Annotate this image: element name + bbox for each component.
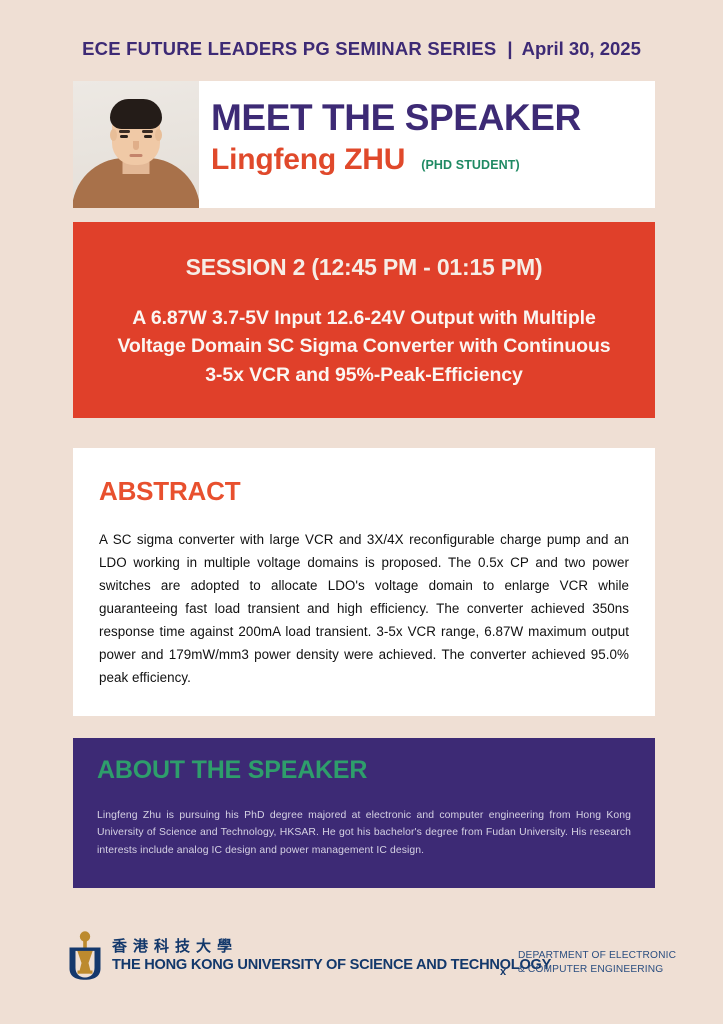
portrait-hair	[110, 99, 162, 129]
meet-the-speaker-title: MEET THE SPEAKER	[211, 99, 581, 136]
footer-separator: x	[500, 966, 506, 978]
portrait-ear-right	[155, 129, 162, 141]
department-name-block: DEPARTMENT OF ELECTRONIC & COMPUTER ENGI…	[518, 949, 676, 978]
about-speaker-block: ABOUT THE SPEAKER Lingfeng Zhu is pursui…	[73, 738, 655, 888]
department-line-2: & COMPUTER ENGINEERING	[518, 963, 676, 977]
session-block: SESSION 2 (12:45 PM - 01:15 PM) A 6.87W …	[73, 222, 655, 418]
seminar-date: April 30, 2025	[522, 38, 641, 60]
abstract-heading: ABSTRACT	[99, 478, 629, 504]
header-bar: ECE FUTURE LEADERS PG SEMINAR SERIES|Apr…	[0, 38, 723, 60]
session-paper-title: A 6.87W 3.7-5V Input 12.6-24V Output wit…	[111, 304, 617, 391]
seminar-series-title: ECE FUTURE LEADERS PG SEMINAR SERIES	[82, 38, 496, 60]
speaker-portrait-photo	[73, 81, 199, 208]
portrait-nose	[133, 141, 139, 150]
speaker-banner-text: MEET THE SPEAKER Lingfeng ZHU(PHD STUDEN…	[211, 81, 655, 208]
portrait-mouth	[130, 154, 143, 157]
header-separator: |	[496, 38, 521, 60]
abstract-block: ABSTRACT A SC sigma converter with large…	[73, 448, 655, 716]
university-name-block: 香港科技大學 THE HONG KONG UNIVERSITY OF SCIEN…	[112, 938, 551, 975]
university-name-chinese: 香港科技大學	[112, 938, 551, 955]
portrait-ear-left	[110, 129, 117, 141]
portrait-eye-right	[144, 135, 152, 138]
portrait-eyebrow-left	[119, 130, 130, 133]
about-speaker-heading: ABOUT THE SPEAKER	[97, 758, 631, 783]
portrait-eye-left	[120, 135, 128, 138]
hkust-logo-icon	[68, 930, 102, 980]
speaker-name: Lingfeng ZHU	[211, 143, 405, 177]
department-line-1: DEPARTMENT OF ELECTRONIC	[518, 949, 676, 963]
abstract-body: A SC sigma converter with large VCR and …	[99, 528, 629, 689]
speaker-role-badge: (PHD STUDENT)	[405, 158, 520, 172]
about-speaker-body: Lingfeng Zhu is pursuing his PhD degree …	[97, 807, 631, 859]
footer: 香港科技大學 THE HONG KONG UNIVERSITY OF SCIEN…	[68, 928, 668, 990]
session-heading: SESSION 2 (12:45 PM - 01:15 PM)	[111, 254, 617, 282]
speaker-banner: MEET THE SPEAKER Lingfeng ZHU(PHD STUDEN…	[73, 81, 655, 208]
university-name-english: THE HONG KONG UNIVERSITY OF SCIENCE AND …	[112, 957, 551, 975]
portrait-eyebrow-right	[142, 130, 153, 133]
speaker-identity-row: Lingfeng ZHU(PHD STUDENT)	[211, 143, 520, 177]
